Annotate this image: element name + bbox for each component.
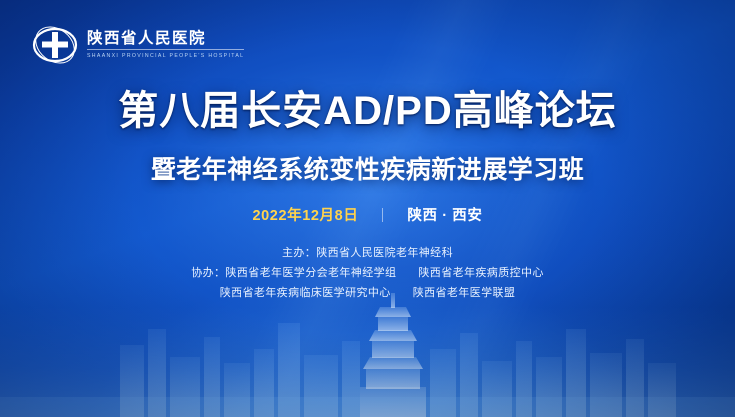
event-location: 陕西 · 西安 bbox=[407, 204, 482, 225]
hospital-name-en: SHAANXI PROVINCIAL PEOPLE'S HOSPITAL bbox=[87, 54, 244, 59]
organizer-co-4: 陕西省老年医学联盟 bbox=[413, 287, 516, 299]
organizer-line-co-1: 协办：陕西省老年医学分会老年神经学组陕西省老年疾病质控中心 bbox=[0, 263, 735, 283]
organizer-line-host: 主办：陕西省人民医院老年神经科 bbox=[0, 243, 735, 263]
event-date: 2022年12月8日 bbox=[252, 204, 358, 225]
organizer-co-1: 陕西省老年医学分会老年神经学组 bbox=[225, 267, 396, 279]
poster-content: 第八届长安AD/PD高峰论坛 暨老年神经系统变性疾病新进展学习班 2022年12… bbox=[0, 78, 735, 303]
organizer-co-3: 陕西省老年疾病临床医学研究中心 bbox=[220, 287, 391, 299]
organizer-line-co-2: 陕西省老年疾病临床医学研究中心陕西省老年医学联盟 bbox=[0, 283, 735, 303]
page-title: 第八届长安AD/PD高峰论坛 bbox=[0, 78, 735, 136]
meta-divider bbox=[382, 208, 383, 222]
logo-divider bbox=[87, 49, 244, 50]
page-subtitle: 暨老年神经系统变性疾病新进展学习班 bbox=[0, 150, 735, 186]
hospital-name-cn: 陕西省人民医院 bbox=[87, 31, 244, 47]
conference-poster: 陕西省人民医院 SHAANXI PROVINCIAL PEOPLE'S HOSP… bbox=[0, 0, 735, 417]
hospital-logo-text: 陕西省人民医院 SHAANXI PROVINCIAL PEOPLE'S HOSP… bbox=[87, 31, 244, 60]
hospital-cross-icon bbox=[32, 22, 78, 68]
organizer-label-co: 协办： bbox=[191, 267, 225, 279]
hospital-logo: 陕西省人民医院 SHAANXI PROVINCIAL PEOPLE'S HOSP… bbox=[32, 22, 244, 68]
organizer-label-host: 主办： bbox=[282, 247, 316, 259]
organizer-host-1: 陕西省人民医院老年神经科 bbox=[316, 247, 453, 259]
organizer-co-2: 陕西省老年疾病质控中心 bbox=[418, 267, 543, 279]
organizer-block: 主办：陕西省人民医院老年神经科 协办：陕西省老年医学分会老年神经学组陕西省老年疾… bbox=[0, 243, 735, 303]
event-meta: 2022年12月8日 陕西 · 西安 bbox=[0, 204, 735, 225]
